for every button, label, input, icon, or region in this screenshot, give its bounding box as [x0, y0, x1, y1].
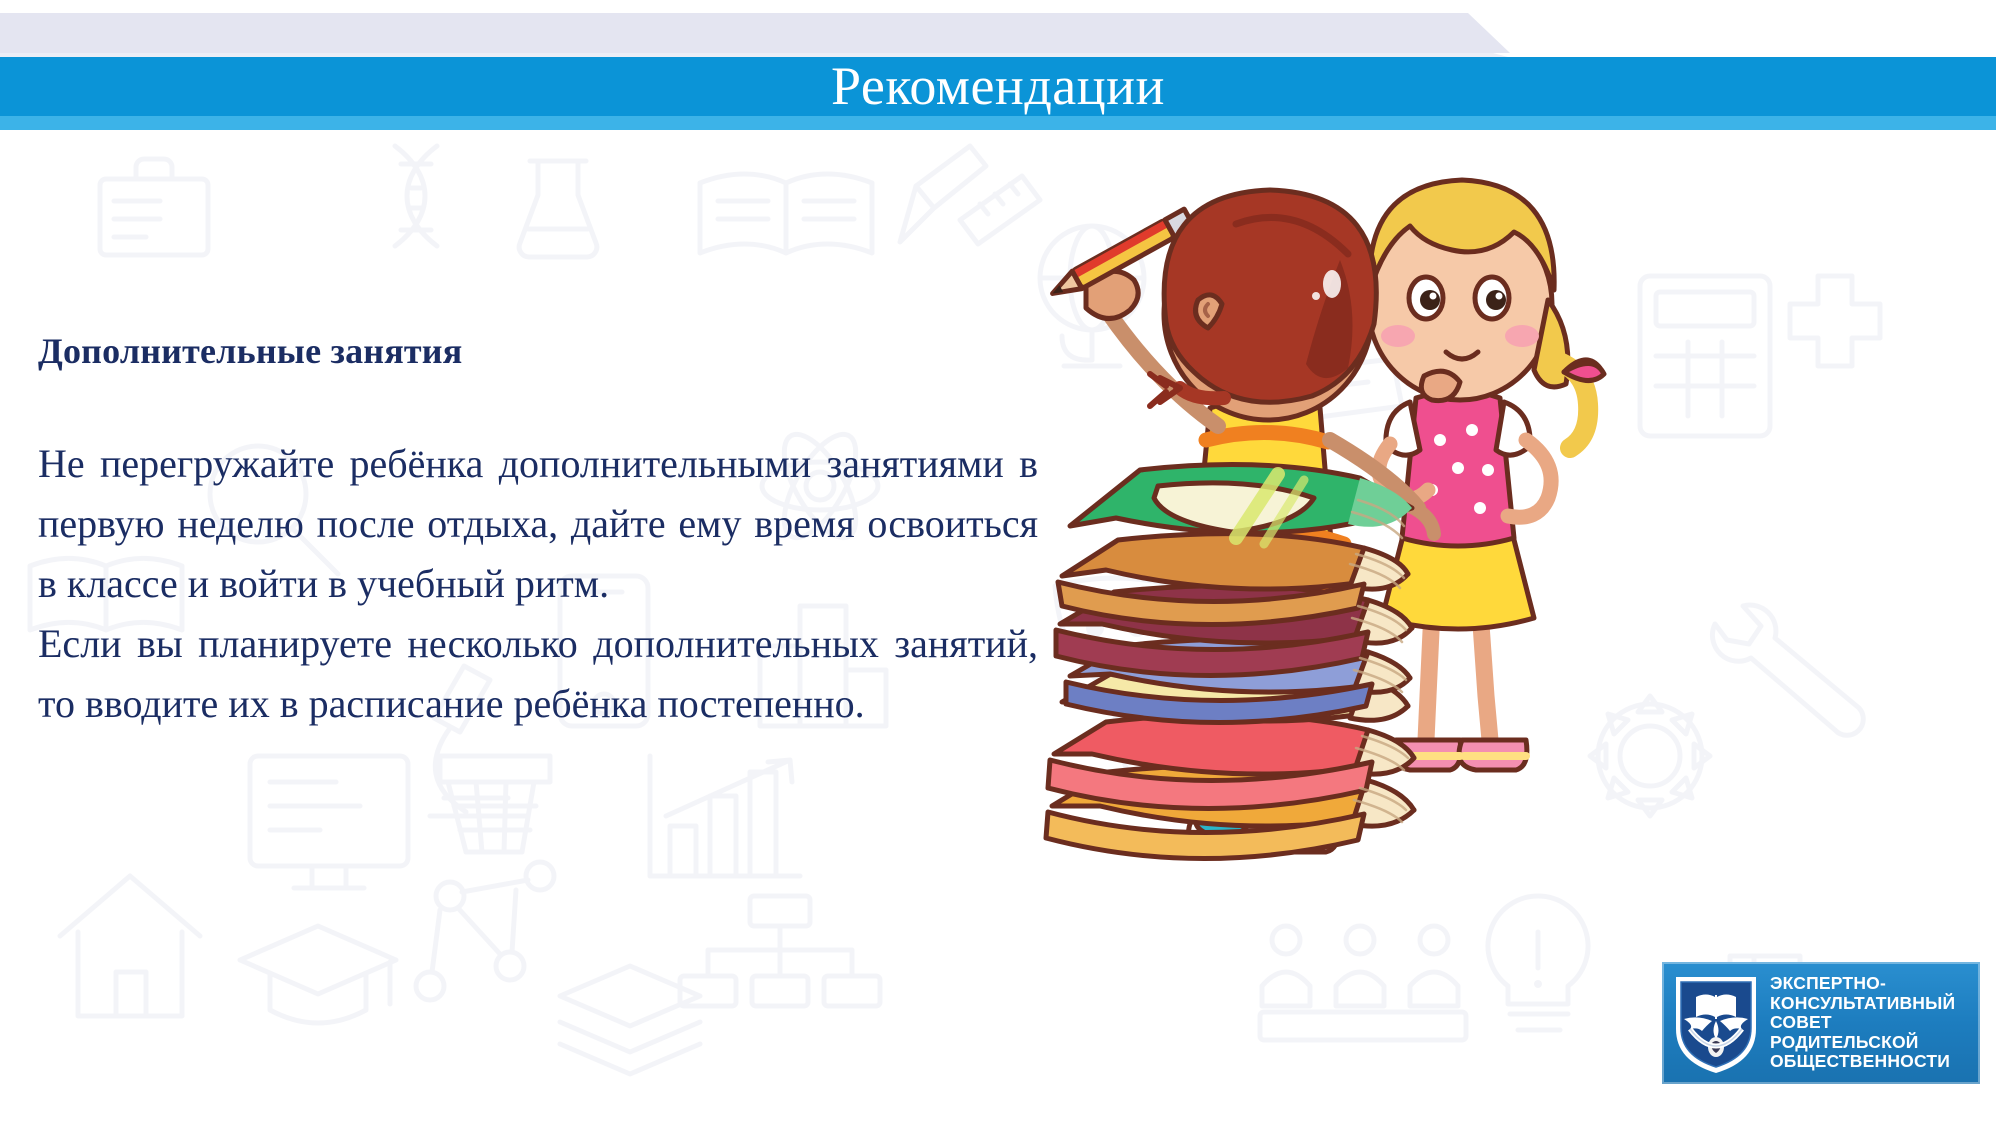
organization-logo: ЭКСПЕРТНО- КОНСУЛЬТАТИВНЫЙ СОВЕТ РОДИТЕЛ…: [1662, 962, 1980, 1084]
shield-emblem-icon: [1668, 971, 1764, 1075]
slide-header: Рекомендации: [0, 0, 1996, 136]
logo-line-3: СОВЕТ: [1770, 1013, 1955, 1033]
paragraph-2: Если вы планируете несколько дополнитель…: [38, 614, 1038, 734]
header-lavender-band: [0, 13, 1510, 53]
logo-line-1: ЭКСПЕРТНО-: [1770, 974, 1955, 994]
illustration-two-girls-with-books: [1040, 140, 1780, 900]
logo-text-block: ЭКСПЕРТНО- КОНСУЛЬТАТИВНЫЙ СОВЕТ РОДИТЕЛ…: [1770, 974, 1955, 1072]
section-heading: Дополнительные занятия: [38, 330, 1048, 372]
slide: Рекомендации: [0, 0, 1996, 1125]
page-title: Рекомендации: [0, 51, 1996, 121]
logo-line-4: РОДИТЕЛЬСКОЙ: [1770, 1033, 1955, 1053]
logo-line-2: КОНСУЛЬТАТИВНЫЙ: [1770, 994, 1955, 1014]
logo-line-5: ОБЩЕСТВЕННОСТИ: [1770, 1052, 1955, 1072]
paragraph-1: Не перегружайте ребёнка дополнительными …: [38, 434, 1038, 614]
content-text-column: Дополнительные занятия Не перегружайте р…: [38, 330, 1048, 734]
